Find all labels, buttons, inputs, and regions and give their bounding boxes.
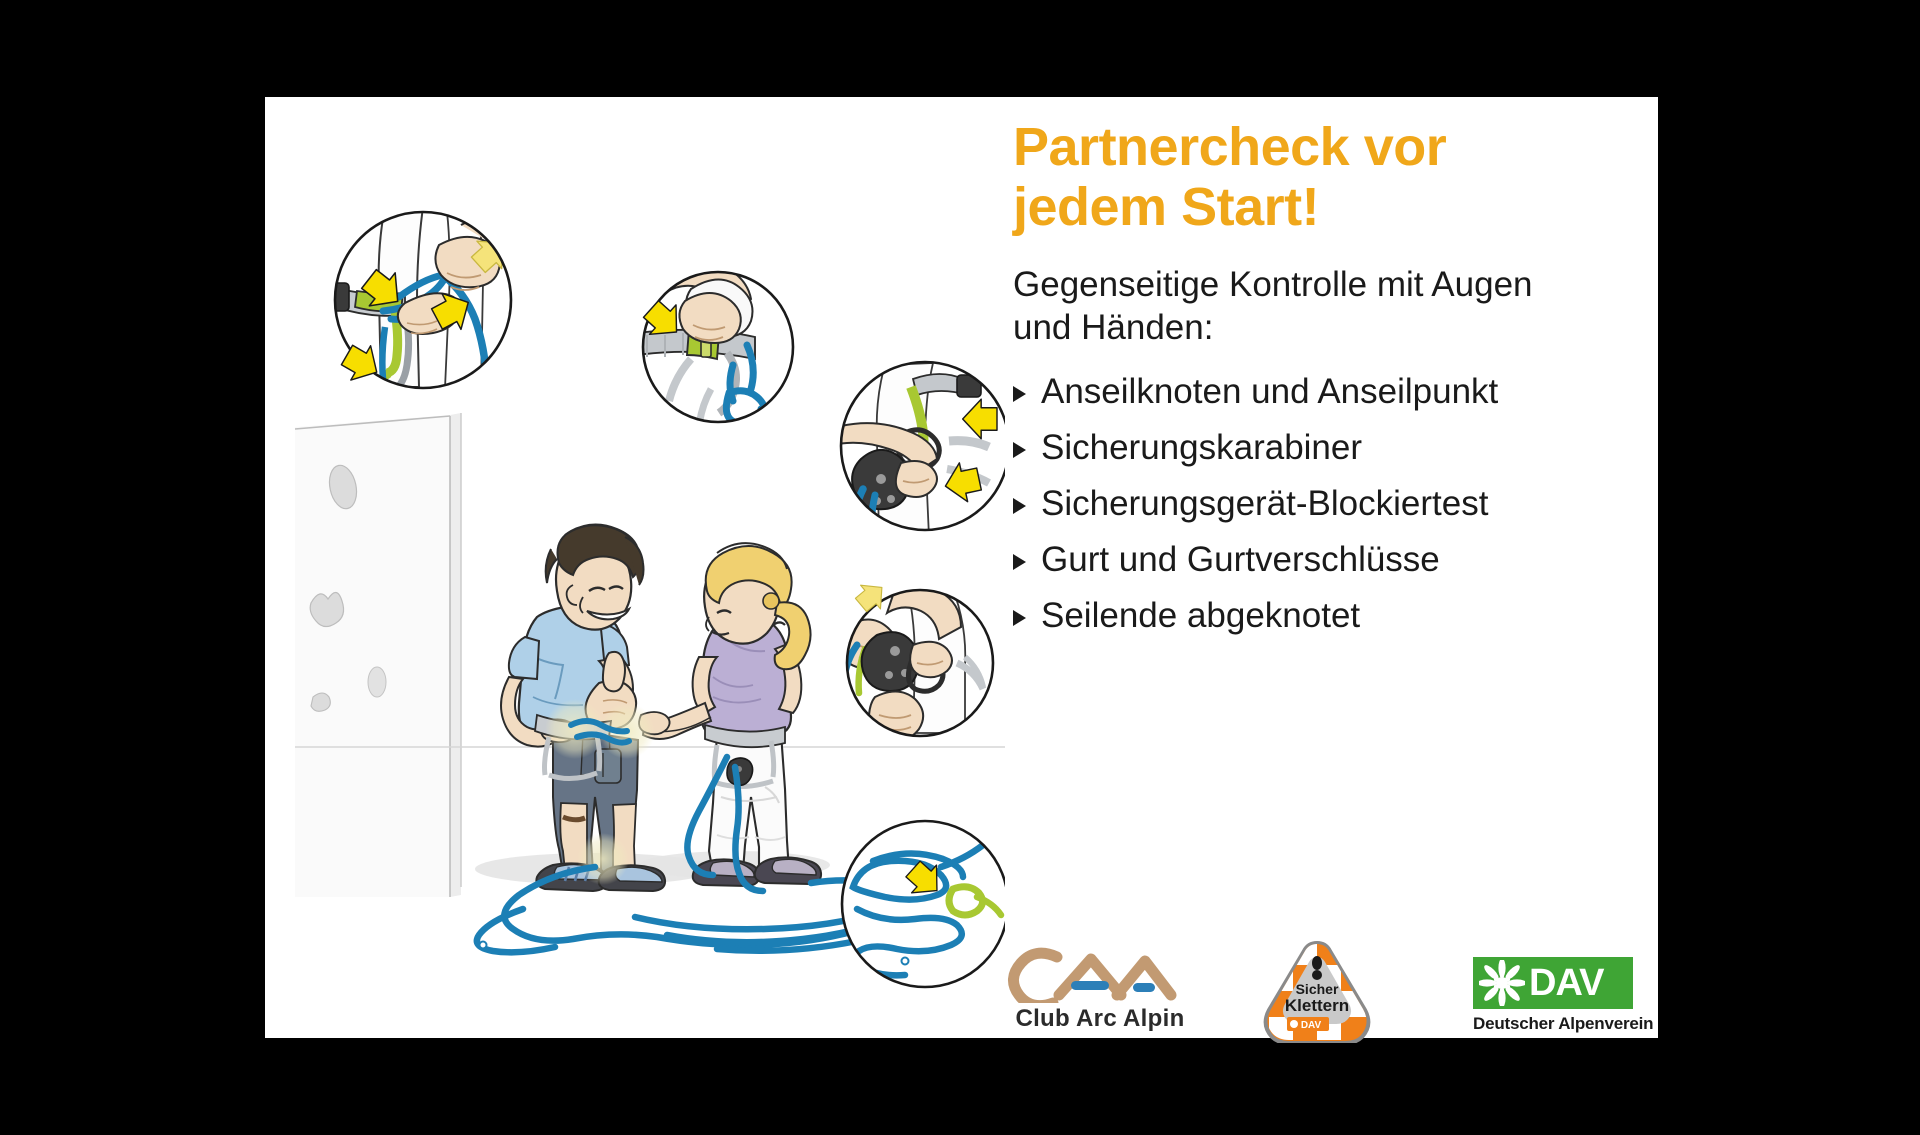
list-item-label: Sicherungsgerät-Blockiertest (1041, 483, 1488, 525)
dav-logo: DAV Deutscher Alpenverein (1473, 957, 1659, 1035)
caa-monogram-icon (1005, 947, 1195, 1003)
svg-text:DAV: DAV (1301, 1020, 1322, 1031)
list-item: Anseilknoten und Anseilpunkt (1013, 371, 1613, 413)
list-item-label: Anseilknoten und Anseilpunkt (1041, 371, 1498, 413)
logo-strip: Club Arc Alpin (1005, 939, 1645, 1035)
inset-blockiertest (840, 576, 993, 741)
triangle-bullet-icon (1013, 610, 1026, 626)
sicher-klettern-badge: Sicher Klettern DAV (1263, 939, 1371, 1043)
inset-anseilknoten (327, 207, 515, 395)
page-title: Partnercheck vor jedem Start! (1013, 117, 1613, 238)
text-column: Partnercheck vor jedem Start! Gegenseiti… (1013, 117, 1613, 651)
club-arc-alpin-logo: Club Arc Alpin (1005, 947, 1195, 1037)
triangle-bullet-icon (1013, 442, 1026, 458)
triangle-bullet-icon (1013, 386, 1026, 402)
inset-gurtverschluss (637, 259, 793, 427)
triangle-bullet-icon (1013, 498, 1026, 514)
climber-woman (639, 543, 821, 886)
slide-card: Partnercheck vor jedem Start! Gegenseiti… (265, 97, 1658, 1038)
list-item: Gurt und Gurtverschlüsse (1013, 539, 1613, 581)
list-item: Seilende abgeknotet (1013, 595, 1613, 637)
dav-green-box: DAV (1473, 957, 1633, 1009)
edelweiss-icon (1479, 960, 1525, 1006)
subtitle: Gegenseitige Kontrolle mit Augen und Hän… (1013, 264, 1613, 349)
caa-wordmark: Club Arc Alpin (1005, 1005, 1195, 1033)
dav-caption: Deutscher Alpenverein (1473, 1014, 1659, 1034)
list-item-label: Seilende abgeknotet (1041, 595, 1360, 637)
list-item-label: Sicherungskarabiner (1041, 427, 1362, 469)
list-item-label: Gurt und Gurtverschlüsse (1041, 539, 1440, 581)
dav-letters: DAV (1529, 962, 1603, 1005)
svg-text:Klettern: Klettern (1285, 996, 1349, 1015)
inset-sicherungskarabiner (833, 362, 1005, 543)
svg-text:Sicher: Sicher (1296, 981, 1339, 997)
inset-seilende-abgeknotet (842, 821, 1005, 987)
slide-stage: Partnercheck vor jedem Start! Gegenseiti… (0, 0, 1920, 1135)
partnercheck-illustration (265, 97, 1005, 1038)
checklist: Anseilknoten und Anseilpunkt Sicherungsk… (1013, 371, 1613, 637)
list-item: Sicherungskarabiner (1013, 427, 1613, 469)
triangle-bullet-icon (1013, 554, 1026, 570)
list-item: Sicherungsgerät-Blockiertest (1013, 483, 1613, 525)
